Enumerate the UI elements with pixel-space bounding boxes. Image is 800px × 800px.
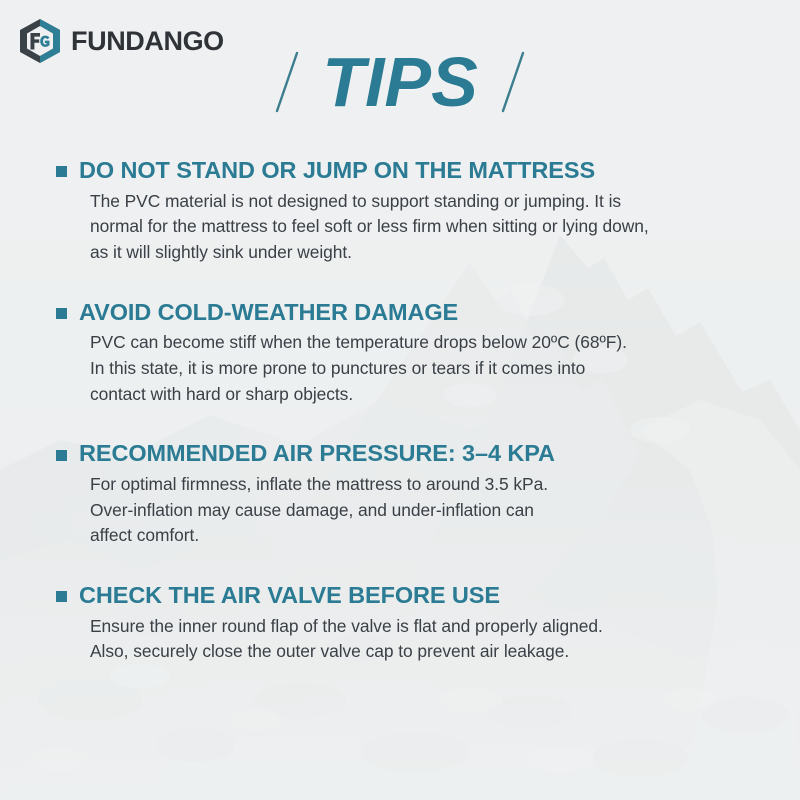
page-title: TIPS [322,47,478,117]
tip-heading-row: DO NOT STAND OR JUMP ON THE MATTRESS [56,158,760,184]
tip-title: AVOID COLD-WEATHER DAMAGE [79,300,458,326]
tip-heading-row: AVOID COLD-WEATHER DAMAGE [56,300,760,326]
tip-body-line: PVC can become stiff when the temperatur… [90,330,760,356]
tip-body: Ensure the inner round flap of the valve… [90,614,760,665]
tip-body-line: affect comfort. [90,523,760,549]
tip-body-line: The PVC material is not designed to supp… [90,189,760,215]
tip-body-line: In this state, it is more prone to punct… [90,356,760,382]
tip-item: CHECK THE AIR VALVE BEFORE USE Ensure th… [56,583,760,665]
tip-title: CHECK THE AIR VALVE BEFORE USE [79,583,500,609]
slash-right-icon [500,50,526,114]
tip-body-line: For optimal firmness, inflate the mattre… [90,472,760,498]
tip-body-line: Ensure the inner round flap of the valve… [90,614,760,640]
tip-body: The PVC material is not designed to supp… [90,189,760,266]
square-bullet-icon [56,308,67,319]
tip-body-line: as it will slightly sink under weight. [90,240,760,266]
tip-item: DO NOT STAND OR JUMP ON THE MATTRESS The… [56,158,760,266]
square-bullet-icon [56,591,67,602]
square-bullet-icon [56,166,67,177]
slash-left-icon [274,50,300,114]
square-bullet-icon [56,450,67,461]
tip-item: AVOID COLD-WEATHER DAMAGE PVC can become… [56,300,760,408]
tips-list: DO NOT STAND OR JUMP ON THE MATTRESS The… [56,158,760,665]
tip-body: For optimal firmness, inflate the mattre… [90,472,760,549]
page-title-row: TIPS [0,47,800,117]
tip-title: RECOMMENDED AIR PRESSURE: 3–4 KPA [79,441,555,467]
tip-item: RECOMMENDED AIR PRESSURE: 3–4 KPA For op… [56,441,760,549]
tip-body: PVC can become stiff when the temperatur… [90,330,760,407]
tip-title: DO NOT STAND OR JUMP ON THE MATTRESS [79,158,595,184]
tips-infographic-page: FUNDANGO TIPS DO NOT STAND OR JUMP ON TH… [0,0,800,800]
tip-heading-row: RECOMMENDED AIR PRESSURE: 3–4 KPA [56,441,760,467]
tip-body-line: normal for the mattress to feel soft or … [90,214,760,240]
tip-body-line: Over-inflation may cause damage, and und… [90,498,760,524]
tip-body-line: contact with hard or sharp objects. [90,382,760,408]
tip-body-line: Also, securely close the outer valve cap… [90,639,760,665]
tip-heading-row: CHECK THE AIR VALVE BEFORE USE [56,583,760,609]
